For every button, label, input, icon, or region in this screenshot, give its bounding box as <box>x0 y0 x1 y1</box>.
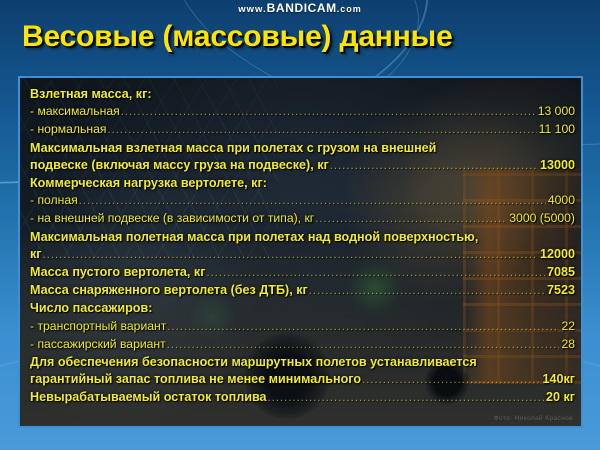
spec-label: - нормальная <box>30 121 106 138</box>
spec-label: Невырабатываемый остаток топлива <box>30 389 267 406</box>
dot-leader: ........................................… <box>107 122 536 139</box>
dot-leader: ........................................… <box>309 283 545 300</box>
dot-leader: ........................................… <box>315 211 507 228</box>
spec-label: - полная <box>30 192 78 209</box>
dot-leader: ........................................… <box>167 319 559 336</box>
spec-heading-line: Коммерческая нагрузка вертолете, кг: <box>30 175 575 192</box>
spec-entry-line: подвеске (включая массу груза на подвеск… <box>30 157 575 175</box>
spec-heading-line: Взлетная масса, кг: <box>30 86 575 103</box>
spec-entry-line: - нормальная............................… <box>30 121 575 139</box>
spec-value: 7523 <box>546 282 575 299</box>
spec-label: подвеске (включая массу груза на подвеск… <box>30 157 329 174</box>
spec-value: 28 <box>560 336 575 353</box>
specifications-list: Взлетная масса, кг:- максимальная.......… <box>30 86 575 408</box>
dot-leader: ........................................… <box>121 104 536 121</box>
spec-value: 11 100 <box>538 121 575 138</box>
spec-heading-line: Число пассажиров: <box>30 300 575 317</box>
content-panel: Взлетная масса, кг:- максимальная.......… <box>18 76 583 428</box>
spec-label: Коммерческая нагрузка вертолете, кг: <box>30 176 267 190</box>
bandicam-watermark: www.BANDICAM.com <box>0 1 600 15</box>
presentation-slide: www.BANDICAM.com Весовые (массовые) данн… <box>0 0 600 450</box>
spec-value: 22 <box>560 318 575 335</box>
spec-entry-line: - пассажирский вариант..................… <box>30 336 575 354</box>
spec-label: - транспортный вариант <box>30 318 166 335</box>
spec-entry-line: гарантийный запас топлива не менее миним… <box>30 371 575 389</box>
bandicam-www-text: www. <box>238 4 266 15</box>
spec-entry-line: Масса снаряженного вертолета (без ДТБ), … <box>30 282 575 300</box>
spec-label: - максимальная <box>30 103 120 120</box>
spec-value: 140кг <box>541 371 575 388</box>
spec-label: - на внешней подвеске (в зависимости от … <box>30 210 314 227</box>
spec-entry-line: Невырабатываемый остаток топлива........… <box>30 389 575 407</box>
dot-leader: ........................................… <box>167 337 560 354</box>
spec-label: Максимальная полетная масса при полетах … <box>30 230 478 244</box>
spec-value: 13000 <box>539 157 575 174</box>
spec-value: 12000 <box>539 246 575 263</box>
spec-label: Число пассажиров: <box>30 301 152 315</box>
spec-label: кг <box>30 246 42 263</box>
spec-value: 4000 <box>547 192 575 209</box>
spec-entry-line: кг......................................… <box>30 246 575 264</box>
spec-entry-line: - полная................................… <box>30 192 575 210</box>
slide-title: Весовые (массовые) данные <box>22 20 578 54</box>
spec-entry-line: - транспортный вариант..................… <box>30 318 575 336</box>
spec-heading-line: Максимальная взлетная масса при полетах … <box>30 140 575 157</box>
spec-entry-line: - на внешней подвеске (в зависимости от … <box>30 210 575 228</box>
spec-value: 7085 <box>546 264 575 281</box>
dot-leader: ........................................… <box>268 390 544 407</box>
spec-label: Для обеспечения безопасности маршрутных … <box>30 355 477 369</box>
spec-label: Масса снаряженного вертолета (без ДТБ), … <box>30 282 308 299</box>
spec-label: Масса пустого вертолета, кг <box>30 264 205 281</box>
dot-leader: ........................................… <box>206 265 545 282</box>
spec-entry-line: Масса пустого вертолета, кг.............… <box>30 264 575 282</box>
spec-label: гарантийный запас топлива не менее миним… <box>30 371 361 388</box>
spec-label: - пассажирский вариант <box>30 336 166 353</box>
spec-value: 13 000 <box>537 103 575 120</box>
spec-heading-line: Максимальная полетная масса при полетах … <box>30 229 575 246</box>
spec-value: 20 кг <box>545 389 575 406</box>
spec-label: Максимальная взлетная масса при полетах … <box>30 141 436 155</box>
spec-heading-line: Для обеспечения безопасности маршрутных … <box>30 354 575 371</box>
dot-leader: ........................................… <box>79 193 546 210</box>
spec-label: Взлетная масса, кг: <box>30 87 152 101</box>
bandicam-com-text: .com <box>337 4 362 14</box>
dot-leader: ........................................… <box>43 247 538 264</box>
photo-credit-watermark: Фото: Николай Краснов <box>494 415 573 422</box>
spec-value: 3000 (5000) <box>508 210 575 227</box>
spec-entry-line: - максимальная..........................… <box>30 103 575 121</box>
bandicam-brand-text: BANDICAM <box>267 1 337 15</box>
dot-leader: ........................................… <box>330 158 538 175</box>
dot-leader: ........................................… <box>362 372 540 389</box>
